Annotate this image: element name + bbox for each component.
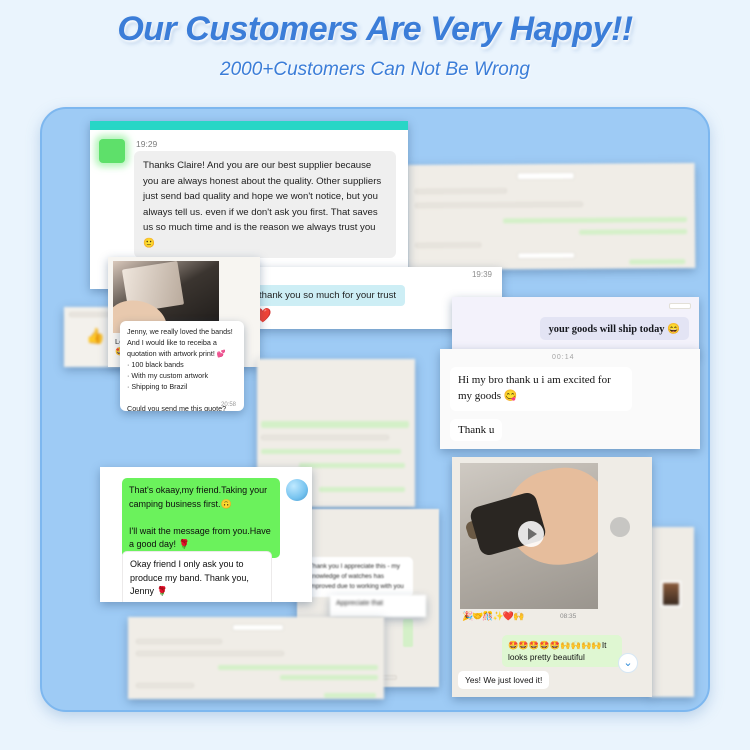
contact-avatar	[99, 139, 125, 163]
camping-green-message: That's okaay,my friend.Taking your campi…	[122, 478, 280, 558]
quotation-card: Jenny, we really loved the bands!And I w…	[120, 321, 244, 411]
appreciate-card: Appreciate that	[330, 595, 426, 617]
knowledge-message: Thank you I appreciate this - my knowled…	[303, 557, 413, 597]
testimonial-message: Thanks Claire! And you are our best supp…	[134, 151, 396, 258]
photo-thumbnail	[661, 581, 681, 607]
message-timestamp: 19:29	[136, 139, 157, 149]
camping-business-card: That's okaay,my friend.Taking your campi…	[100, 467, 312, 602]
testimonial-collage-frame: Hi Claire, yes, this are perfect 😄 19:29…	[40, 107, 710, 712]
blurred-chat-panel-top: Hi Claire, yes, this are perfect 😄	[407, 163, 696, 270]
globe-avatar	[286, 479, 308, 501]
page-title: Our Customers Are Very Happy!!	[0, 10, 750, 49]
watch-video-preview[interactable]	[460, 463, 598, 609]
watch-video-card: 🎉🤝🎊✨❤️🙌 08:35 🤩🤩🤩🤩🤩🙌🙌🙌🙌It looks pretty b…	[452, 457, 652, 697]
video-timestamp: 08:35	[560, 613, 576, 620]
appreciate-message: Appreciate that	[330, 595, 426, 612]
forward-icon[interactable]	[610, 517, 630, 537]
page-header: Our Customers Are Very Happy!! 2000+Cust…	[0, 0, 750, 81]
excited-message: Hi my bro thank u i am excited for my go…	[450, 367, 632, 411]
play-icon[interactable]	[518, 521, 544, 547]
blurred-chat-panel-bottom: Hi Claire, yes, this are perfect 😄	[128, 617, 384, 699]
teal-header-bar	[90, 121, 408, 130]
trust-timestamp: 19:39	[472, 270, 492, 279]
loved-it-message: Yes! We just loved it!	[458, 671, 549, 689]
chevron-down-icon[interactable]: ⌄	[618, 653, 638, 673]
ship-today-card: your goods will ship today 😄	[452, 297, 699, 355]
excited-card: 00:14 Hi my bro thank u i am excited for…	[440, 349, 700, 449]
camping-white-message: Okay friend I only ask you to produce my…	[122, 551, 272, 602]
beautiful-message: 🤩🤩🤩🤩🤩🙌🙌🙌🙌It looks pretty beautiful	[502, 635, 622, 667]
page-subtitle: 2000+Customers Can Not Be Wrong	[0, 59, 750, 81]
trust-message: thank you so much for your trust	[250, 285, 405, 306]
quotation-text: Jenny, we really loved the bands!And I w…	[120, 321, 244, 411]
time-divider: 00:14	[552, 354, 575, 361]
thumbnail-strip	[650, 527, 694, 697]
quotation-timestamp: 20:58	[221, 402, 236, 408]
ship-today-message: your goods will ship today 😄	[540, 317, 689, 340]
video-reactions: 🎉🤝🎊✨❤️🙌	[462, 611, 523, 622]
excited-followup: Thank u	[450, 419, 502, 441]
